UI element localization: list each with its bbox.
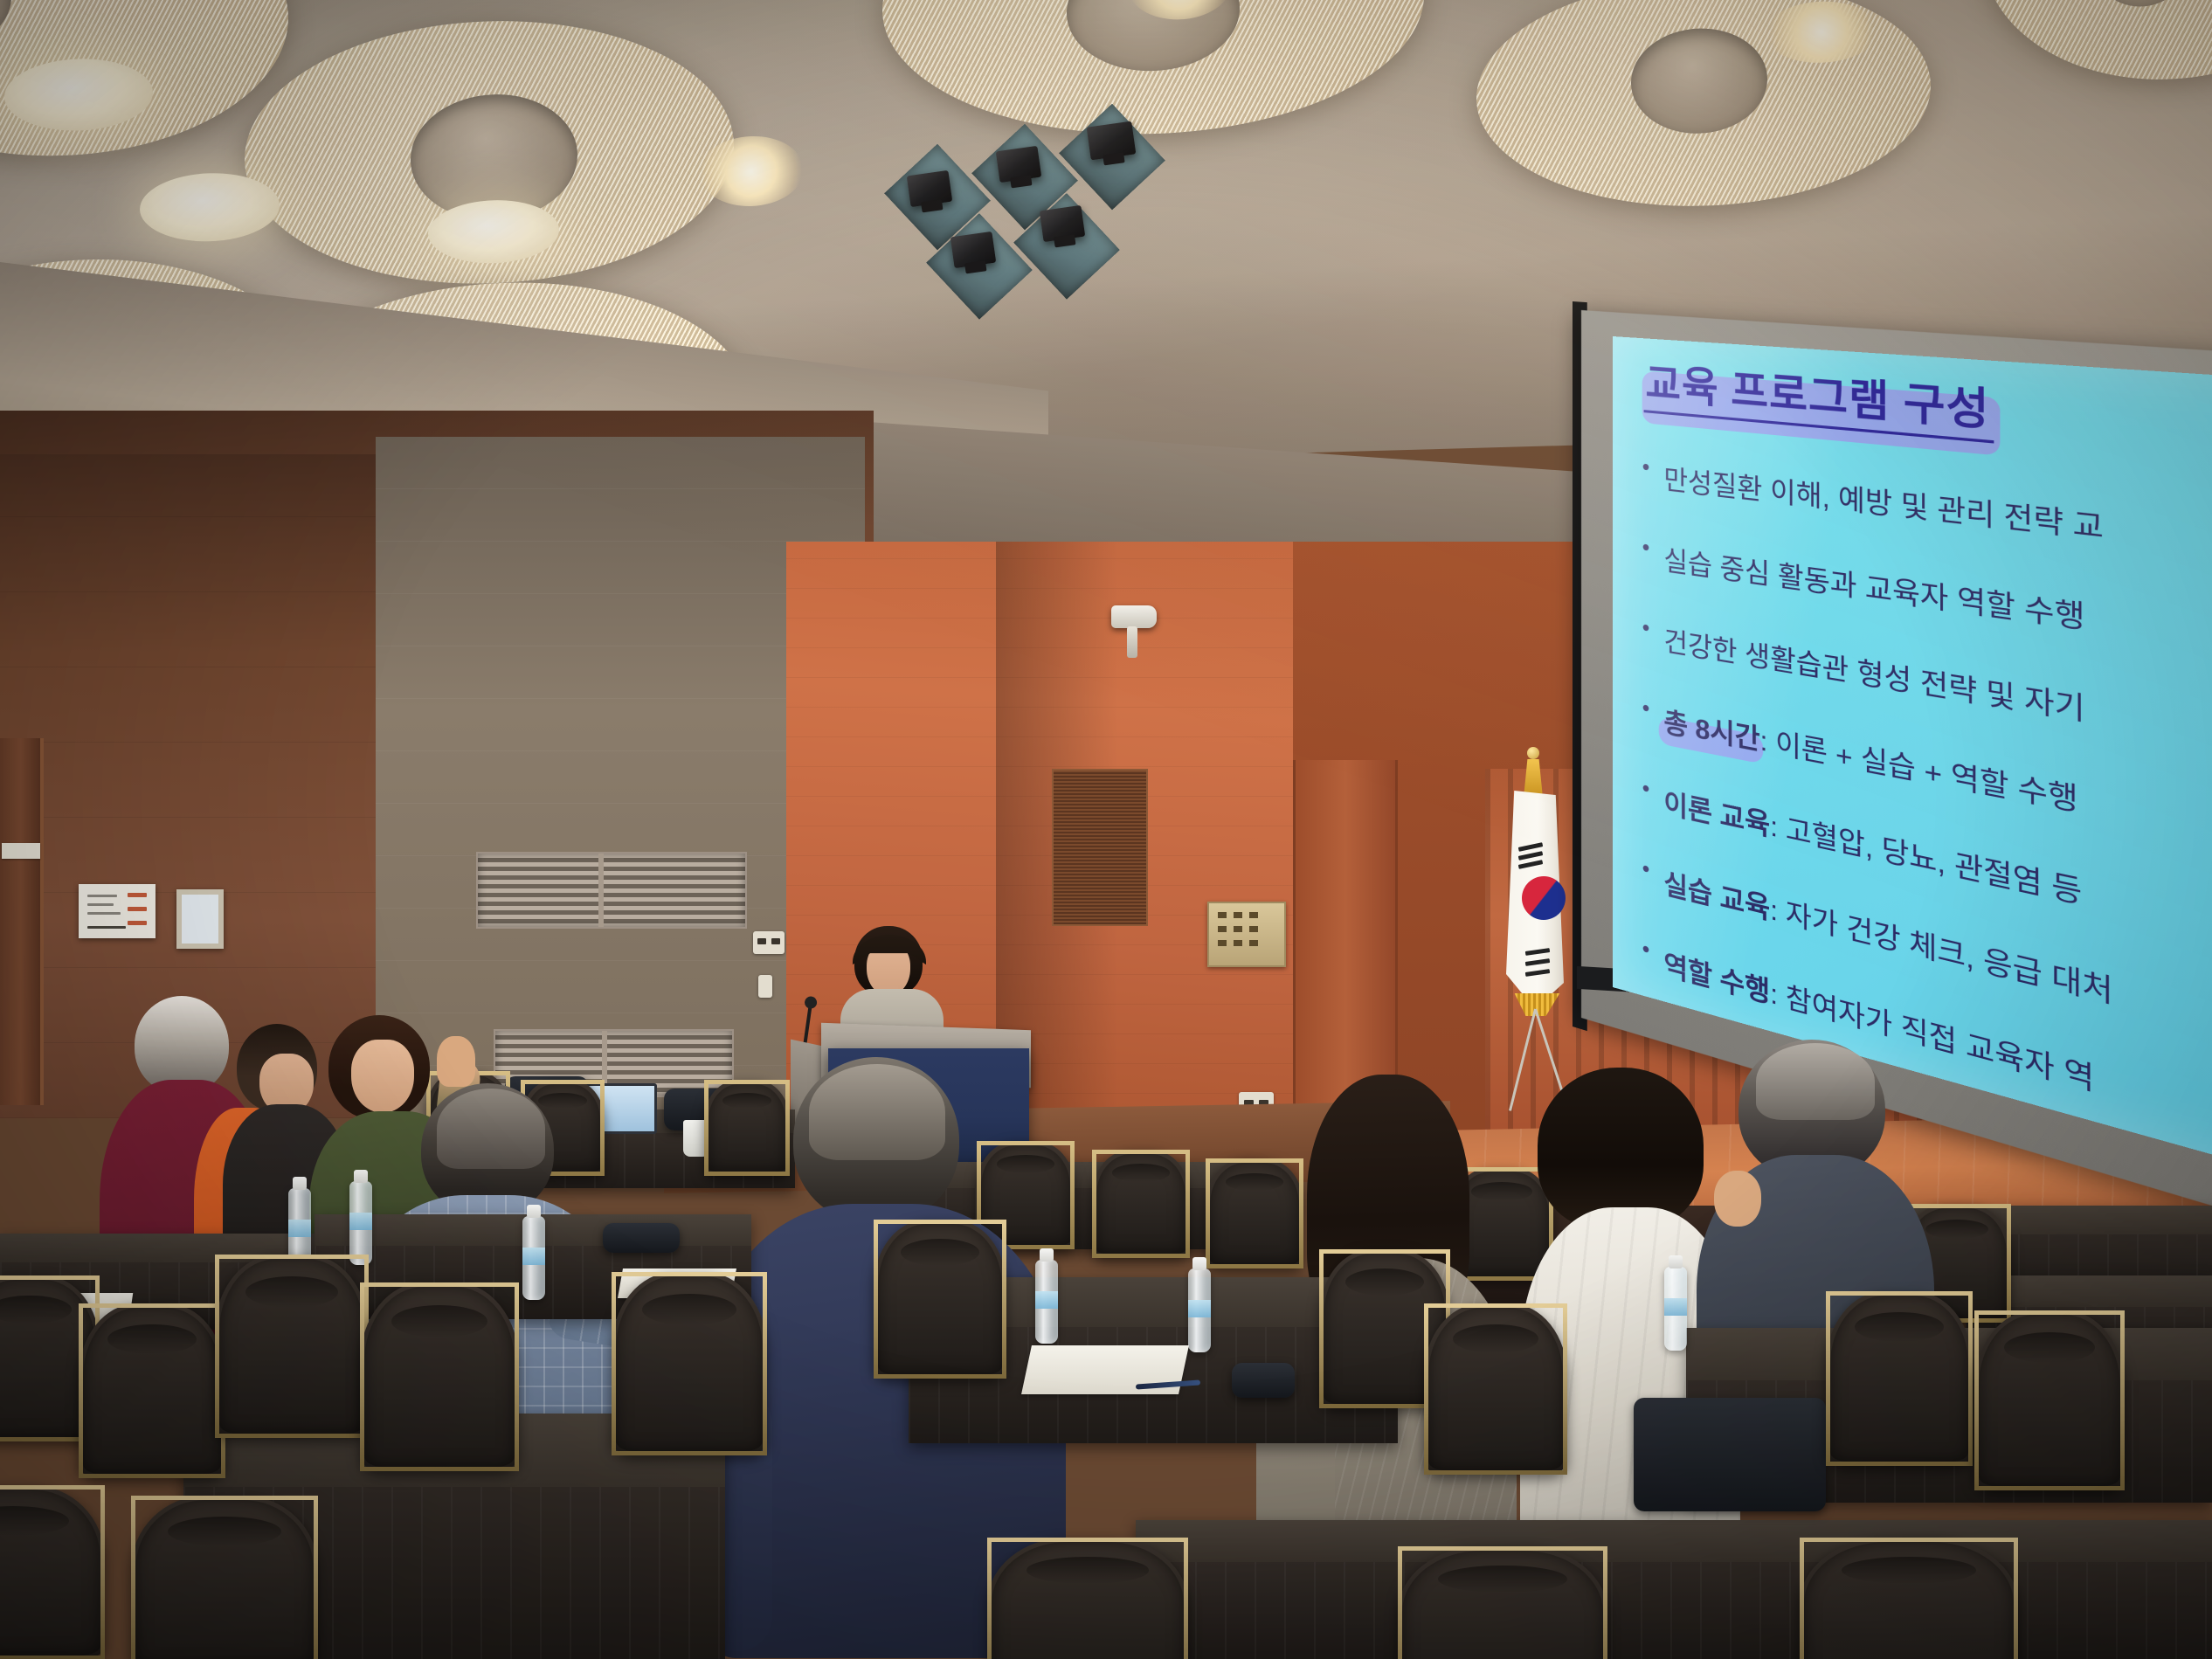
water-bottle xyxy=(522,1216,545,1300)
chair[interactable] xyxy=(1826,1291,1973,1466)
chair[interactable] xyxy=(360,1282,519,1471)
stage-spotlight xyxy=(1087,121,1137,161)
chair[interactable] xyxy=(1424,1303,1567,1475)
phone xyxy=(603,1223,680,1253)
door-sign xyxy=(2,843,40,859)
table-front-right xyxy=(1136,1520,2212,1659)
water-bottle xyxy=(1035,1260,1058,1344)
wall-poster-notice xyxy=(79,884,156,938)
phone-case xyxy=(1232,1363,1295,1398)
wall-vent-upper xyxy=(476,852,747,929)
door-left[interactable] xyxy=(0,738,44,1105)
conference-room-photo: 교육 프로그램 구성 만성질환 이해, 예방 및 관리 전략 교 실습 중심 활… xyxy=(0,0,2212,1659)
chair[interactable] xyxy=(612,1272,767,1455)
chair[interactable] xyxy=(0,1485,105,1659)
slide-title: 교육 프로그램 구성 xyxy=(1642,349,2001,446)
wall-poster-certificate xyxy=(176,889,224,949)
stage-spotlight xyxy=(1040,205,1086,242)
chair[interactable] xyxy=(131,1496,318,1659)
chair[interactable] xyxy=(79,1303,225,1478)
stage-spotlight xyxy=(950,232,997,268)
wall-outlet[interactable] xyxy=(758,975,772,998)
door-right[interactable] xyxy=(1293,760,1398,1127)
water-bottle xyxy=(1664,1267,1687,1351)
flag-tassel xyxy=(1524,759,1543,798)
chair[interactable] xyxy=(1974,1310,2125,1490)
stage-spotlight xyxy=(907,170,953,207)
water-bottle xyxy=(1188,1268,1211,1352)
wall-control-panel[interactable] xyxy=(1207,902,1286,967)
backpack xyxy=(1634,1398,1826,1511)
wall-speaker-grille xyxy=(1052,769,1148,926)
security-camera xyxy=(1111,605,1157,628)
chair[interactable] xyxy=(987,1538,1188,1659)
water-bottle xyxy=(349,1181,372,1265)
chair[interactable] xyxy=(1800,1538,2018,1659)
chair[interactable] xyxy=(1398,1546,1607,1659)
chair[interactable] xyxy=(215,1255,369,1438)
chair[interactable] xyxy=(874,1220,1006,1379)
flag-finial xyxy=(1527,747,1539,759)
stage-spotlight xyxy=(996,146,1042,183)
wall-switch-panel[interactable] xyxy=(753,931,785,954)
